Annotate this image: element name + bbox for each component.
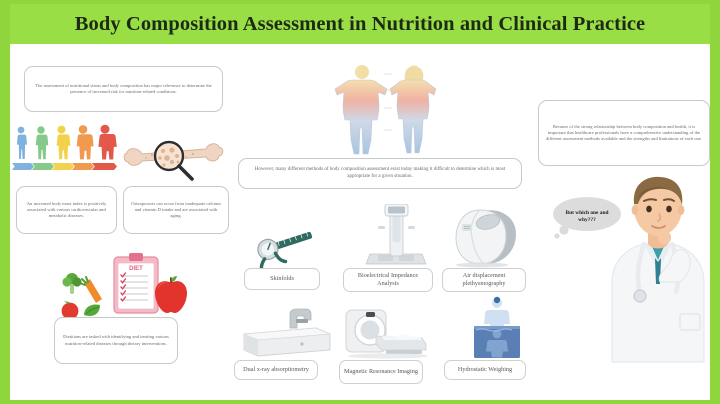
method-label-skinfolds: Skinfolds — [244, 268, 320, 290]
callout-intro: The assessment of nutritional status and… — [24, 66, 223, 112]
bia-analyzer-icon — [356, 204, 436, 268]
method-label-bia: Bioelectrical Impedance Analysis — [343, 268, 433, 292]
method-label-dxa: Dual x-ray absorptiometry — [234, 360, 318, 380]
body-composition-diagram — [322, 60, 450, 160]
method-label-mri: Magnetic Resonance Imaging — [339, 360, 423, 384]
poster-title-bar: Body Composition Assessment in Nutrition… — [10, 4, 710, 44]
method-label-hydrostatic: Hydrostatic Weighing — [444, 360, 526, 380]
infographic-poster: Body Composition Assessment in Nutrition… — [0, 0, 720, 404]
mri-scanner-icon — [342, 306, 434, 360]
bmi-body-silhouette-scale — [10, 122, 118, 172]
poster-canvas: The assessment of nutritional status and… — [10, 44, 710, 396]
method-label-adp: Air displacement plethysmography — [442, 268, 526, 292]
thought-bubble: But which one and why??? — [550, 194, 624, 240]
callout-bmi: An increased body mass index is positive… — [16, 186, 117, 234]
svg-text:DIET: DIET — [129, 266, 143, 272]
bod-pod-icon — [450, 204, 528, 268]
callout-methods-exist: However, many different methods of body … — [238, 158, 522, 189]
hydrostatic-tank-icon — [462, 294, 532, 360]
dxa-scanner-icon — [238, 308, 336, 360]
thought-bubble-text: But which one and why??? — [560, 210, 615, 225]
page-title: Body Composition Assessment in Nutrition… — [75, 13, 646, 36]
osteoporosis-bone-magnifier — [122, 134, 228, 182]
callout-dietitians: Dietitians are tasked with identifying a… — [54, 317, 178, 364]
callout-osteoporosis: Osteoporosis can occur from inadequate c… — [123, 186, 229, 234]
skinfold-caliper-icon — [248, 226, 322, 268]
callout-professionals: Because of the strong relationship betwe… — [538, 100, 710, 166]
